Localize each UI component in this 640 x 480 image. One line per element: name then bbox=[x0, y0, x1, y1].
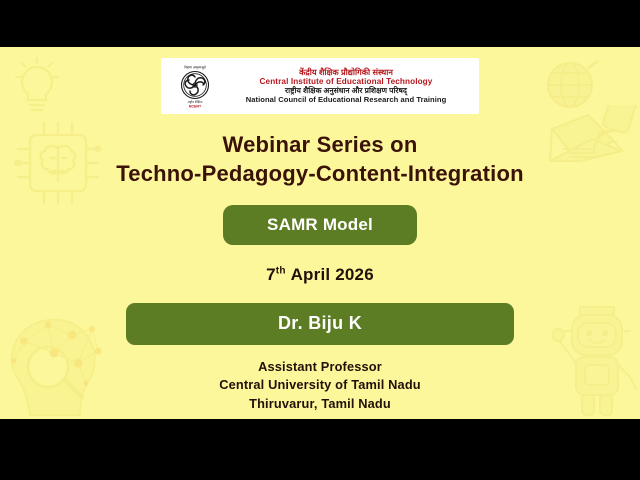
title-line-1: Webinar Series on bbox=[116, 131, 523, 160]
svg-text:विद्यया अमृतमश्नुते: विद्यया अमृतमश्नुते bbox=[184, 65, 206, 70]
letterbox-top-bar bbox=[0, 0, 640, 47]
speaker-designation: Assistant Professor bbox=[219, 358, 421, 376]
speaker-affiliation: Assistant Professor Central University o… bbox=[219, 358, 421, 412]
organization-text-block: केंद्रीय शैक्षिक प्रौद्योगिकी संस्थान Ce… bbox=[219, 68, 471, 104]
event-date: 7th April 2026 bbox=[266, 265, 374, 285]
org-hindi-line-1: केंद्रीय शैक्षिक प्रौद्योगिकी संस्थान bbox=[221, 68, 471, 77]
title-line-2: Techno-Pedagogy-Content-Integration bbox=[116, 160, 523, 189]
event-date-ordinal: th bbox=[276, 266, 286, 277]
svg-text:राष्ट्रीय शैक्षिक: राष्ट्रीय शैक्षिक bbox=[188, 100, 203, 104]
event-date-day: 7 bbox=[266, 265, 276, 284]
org-english-line-1: Central Institute of Educational Technol… bbox=[221, 77, 471, 86]
ncert-emblem-logo: विद्यया अमृतमश्नुते राष्ट्रीय शैक्षिक bbox=[171, 62, 219, 110]
speaker-location: Thiruvarur, Tamil Nadu bbox=[219, 395, 421, 413]
slide-stage: विद्यया अमृतमश्नुते राष्ट्रीय शैक्षिक bbox=[0, 47, 640, 419]
letterbox-bottom-bar bbox=[0, 419, 640, 480]
page-title: Webinar Series on Techno-Pedagogy-Conten… bbox=[116, 131, 523, 188]
webinar-slide: विद्यया अमृतमश्नुते राष्ट्रीय शैक्षिक bbox=[0, 0, 640, 480]
slide-content: विद्यया अमृतमश्नुते राष्ट्रीय शैक्षिक bbox=[0, 47, 640, 419]
speaker-name-banner: Dr. Biju K bbox=[126, 303, 514, 345]
svg-text:NCERT: NCERT bbox=[189, 105, 202, 109]
org-english-line-2: National Council of Educational Research… bbox=[221, 96, 471, 105]
event-date-month-year: April 2026 bbox=[291, 265, 374, 284]
topic-badge: SAMR Model bbox=[223, 205, 417, 245]
organization-header-card: विद्यया अमृतमश्नुते राष्ट्रीय शैक्षिक bbox=[161, 58, 479, 114]
speaker-institution: Central University of Tamil Nadu bbox=[219, 376, 421, 394]
